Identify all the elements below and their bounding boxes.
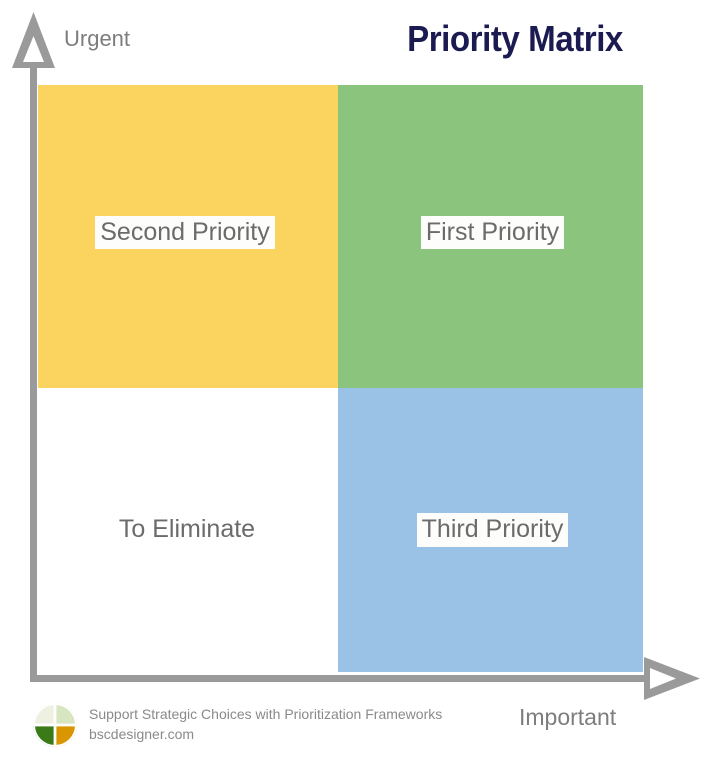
footer: Support Strategic Choices with Prioritiz… <box>33 702 442 747</box>
y-axis-line <box>30 57 37 681</box>
quadrant-label-to-eliminate: To Eliminate <box>114 513 260 547</box>
priority-matrix-diagram: Priority Matrix Urgent Important Second … <box>0 0 720 761</box>
y-axis-label-urgent: Urgent <box>64 26 130 52</box>
x-axis-label-important: Important <box>519 704 616 731</box>
arrow-right-icon <box>644 657 700 700</box>
bscdesigner-quadrant-logo-icon <box>33 703 77 747</box>
quadrant-to-eliminate[interactable]: To Eliminate <box>38 388 338 672</box>
x-axis-line <box>30 675 671 682</box>
footer-tagline: Support Strategic Choices with Prioritiz… <box>89 704 442 724</box>
quadrant-label-second-priority: Second Priority <box>95 216 275 250</box>
quadrant-first-priority[interactable]: First Priority <box>338 85 643 388</box>
page-title: Priority Matrix <box>391 18 639 60</box>
matrix-grid: Second Priority First Priority To Elimin… <box>38 85 643 672</box>
footer-text-block: Support Strategic Choices with Prioritiz… <box>89 702 442 745</box>
quadrant-label-first-priority: First Priority <box>421 216 564 250</box>
footer-website[interactable]: bscdesigner.com <box>89 724 442 744</box>
quadrant-second-priority[interactable]: Second Priority <box>38 85 338 388</box>
quadrant-label-third-priority: Third Priority <box>417 513 569 547</box>
quadrant-third-priority[interactable]: Third Priority <box>338 388 643 672</box>
arrow-up-icon <box>12 12 55 68</box>
